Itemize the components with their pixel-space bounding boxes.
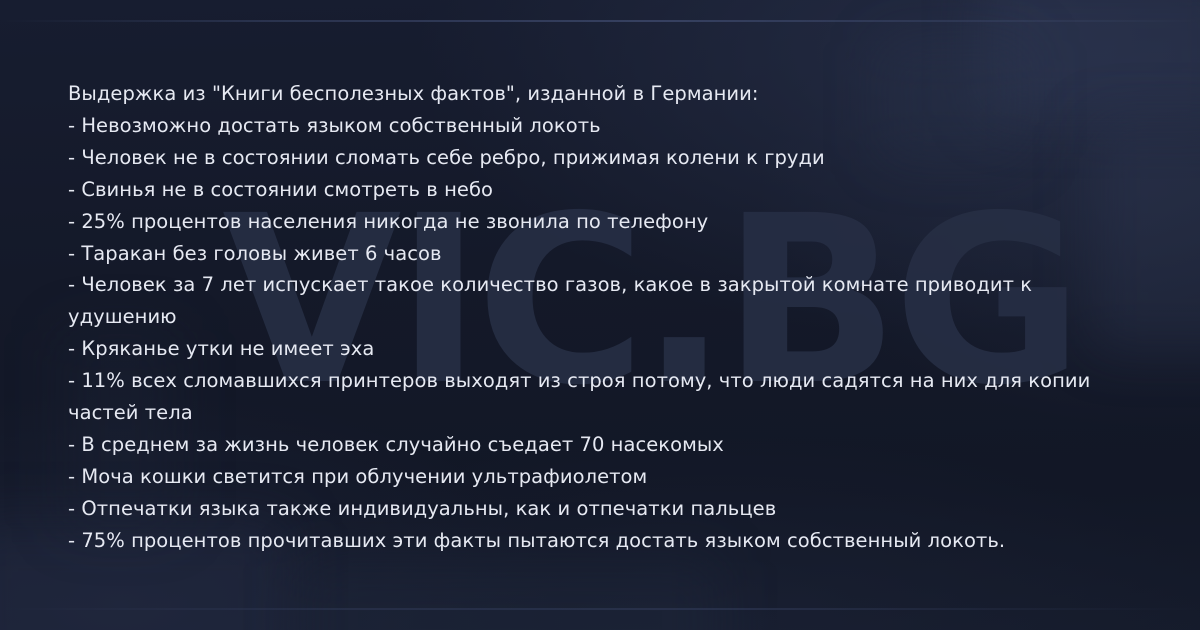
- list-item: - Человек не в состоянии сломать себе ре…: [68, 142, 1140, 174]
- list-item: - Отпечатки языка также индивидуальны, к…: [68, 493, 1140, 525]
- list-item: - Таракан без головы живет 6 часов: [68, 238, 1140, 270]
- list-item: - 75% процентов прочитавших эти факты пы…: [68, 525, 1140, 557]
- list-item: - 11% всех сломавшихся принтеров выходят…: [68, 365, 1140, 429]
- list-item: - В среднем за жизнь человек случайно съ…: [68, 429, 1140, 461]
- list-item: - Моча кошки светится при облучении ульт…: [68, 461, 1140, 493]
- screenshot-canvas: VIC.BG Выдержка из "Книги бесполезных фа…: [0, 0, 1200, 630]
- fact-list: Выдержка из "Книги бесполезных фактов", …: [68, 78, 1140, 557]
- list-heading: Выдержка из "Книги бесполезных фактов", …: [68, 78, 1140, 110]
- list-item: - Кряканье утки не имеет эха: [68, 333, 1140, 365]
- list-item: - Свинья не в состоянии смотреть в небо: [68, 174, 1140, 206]
- list-item: - Человек за 7 лет испускает такое колич…: [68, 269, 1140, 333]
- list-item: - 25% процентов населения никогда не зво…: [68, 206, 1140, 238]
- list-item: - Невозможно достать языком собственный …: [68, 110, 1140, 142]
